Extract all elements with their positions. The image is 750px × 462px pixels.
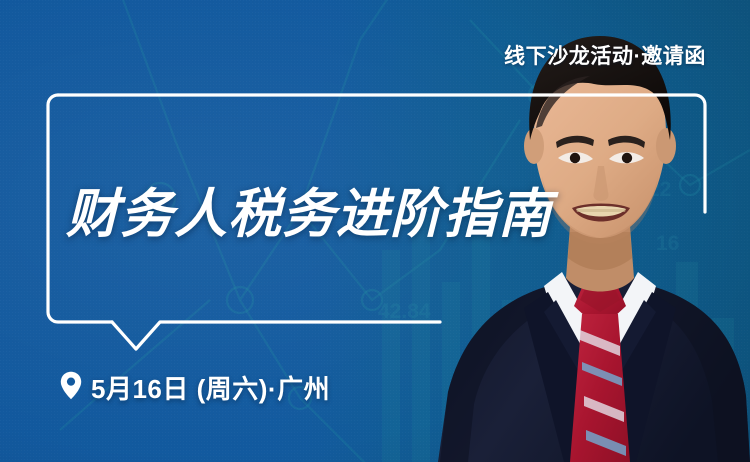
invitation-poster: 42.84 22 16 63.22 [0, 0, 750, 462]
location-pin-icon [60, 371, 82, 405]
event-meta: 5月16日 (周六)·广州 [60, 369, 330, 406]
event-date-location: 5月16日 (周六)·广州 [91, 369, 330, 406]
event-kicker-label: 线下沙龙活动·邀请函 [504, 40, 706, 70]
page-title: 财务人税务进阶指南 [66, 172, 552, 248]
